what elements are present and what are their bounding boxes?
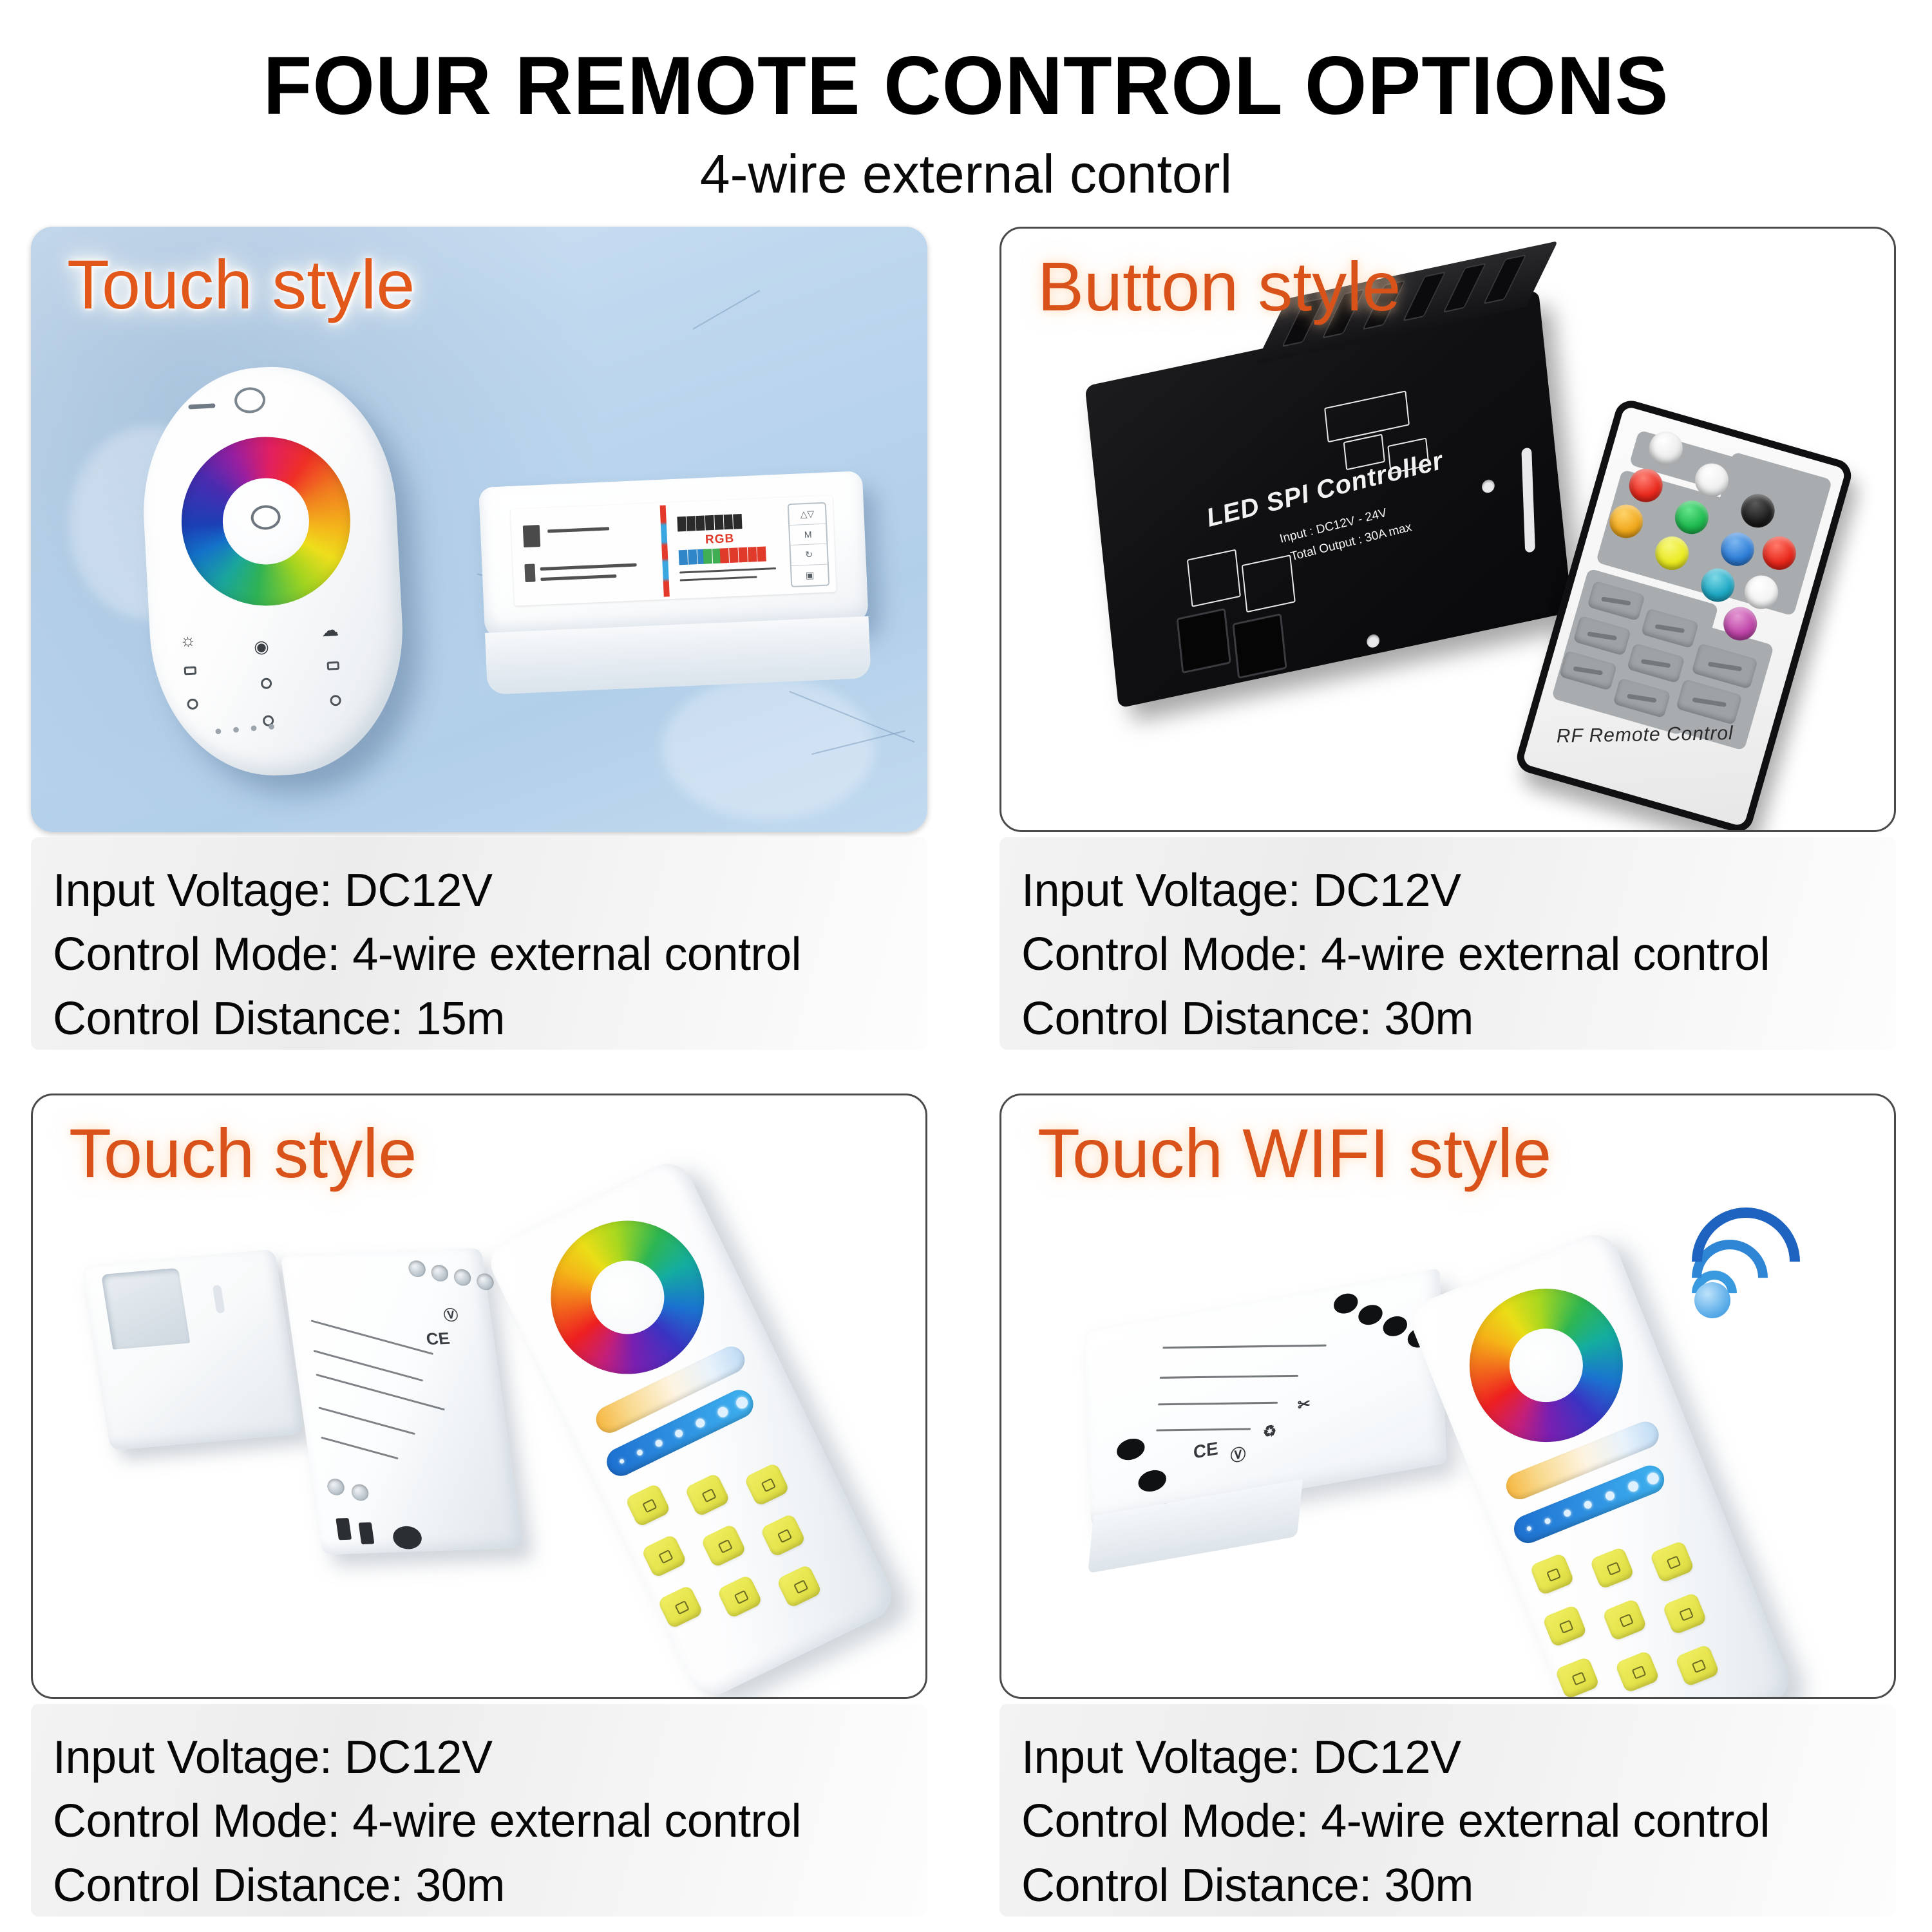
rj45-port-b	[1232, 613, 1287, 679]
screw-hole-b	[1366, 633, 1380, 649]
wifi-signal-icon	[1685, 1193, 1833, 1322]
dot-icon-a	[261, 677, 272, 689]
keypad-button-9	[776, 1564, 822, 1608]
wall-bracket	[82, 1249, 304, 1451]
button-m: M	[790, 524, 826, 545]
keypad-button-1	[625, 1483, 671, 1528]
style-label: Button style	[1037, 252, 1401, 321]
spec-panel: Input Voltage: DC12V Control Mode: 4-wir…	[999, 837, 1896, 1050]
spec-control-distance: Control Distance: 30m	[1021, 987, 1896, 1051]
power-circle-icon	[234, 386, 266, 413]
infographic-page: FOUR REMOTE CONTROL OPTIONS 4-wire exter…	[0, 0, 1932, 1932]
spec-input-voltage: Input Voltage: DC12V	[53, 1726, 927, 1790]
rf-remote-control: RF Remote Control	[1513, 397, 1855, 832]
keypad-button-3	[1649, 1540, 1695, 1583]
rj45-port-a	[1176, 608, 1231, 674]
oval-touch-remote: ☼ ◉ ☁ ● ● ● ●	[137, 361, 410, 782]
rohs-mark-box	[1242, 554, 1296, 612]
button-refresh: ↻	[791, 544, 828, 566]
spec-control-mode: Control Mode: 4-wire external control	[53, 1790, 927, 1853]
spec-panel: Input Voltage: DC12V Control Mode: 4-wir…	[31, 837, 927, 1050]
spec-control-distance: Control Distance: 30m	[53, 1854, 927, 1918]
keypad-button-2	[684, 1472, 730, 1517]
minus-icon	[188, 403, 215, 409]
link-icon	[330, 695, 341, 706]
spec-control-distance: Control Distance: 30m	[1021, 1854, 1896, 1918]
color-stripe	[660, 505, 670, 596]
product-photo-touch-wifi-style: Touch WIFI style	[999, 1094, 1896, 1699]
option-card-touch-style-15m[interactable]: Touch style ☼ ◉ ☁ ● ● ● ●	[31, 227, 958, 1056]
spec-control-distance: Control Distance: 15m	[53, 987, 927, 1051]
header: FOUR REMOTE CONTROL OPTIONS 4-wire exter…	[0, 0, 1932, 201]
mounting-slot	[1521, 447, 1535, 553]
keypad-button-8	[1615, 1650, 1660, 1693]
mode-icon	[184, 666, 197, 675]
speed-icon	[187, 698, 198, 710]
keypad-button-9	[1674, 1644, 1720, 1687]
style-label: Touch style	[69, 1119, 417, 1188]
remote-brand-mark: ● ● ● ●	[214, 719, 279, 739]
spec-panel: Input Voltage: DC12V Control Mode: 4-wir…	[999, 1704, 1896, 1917]
spec-input-voltage: Input Voltage: DC12V	[1021, 859, 1896, 923]
spec-control-mode: Control Mode: 4-wire external control	[1021, 923, 1896, 987]
black-led-spi-controller: LED SPI Controller Input : DC12V - 24V T…	[1085, 290, 1573, 708]
keypad-button-3	[744, 1462, 790, 1506]
wifi-controller-box: CE Ⓥ ♻ ✂	[1084, 1268, 1446, 1526]
brightness-icon: ☼	[180, 631, 196, 649]
keypad-button-8	[717, 1574, 763, 1618]
option-card-button-style-30m[interactable]: Button style LED SPI Controller Input : …	[999, 227, 1927, 1056]
white-rf-controller-box: ███████ RGB ███ ██ █████ △▽ M ↻ ▣	[478, 471, 869, 639]
controller-buttons: △▽ M ↻ ▣	[788, 502, 830, 587]
ce-mark-box	[1187, 549, 1241, 607]
globe-icon: ◉	[253, 638, 269, 656]
product-photo-button-style: Button style LED SPI Controller Input : …	[999, 227, 1896, 832]
led-driver: CE Ⓥ	[281, 1248, 524, 1555]
style-label: Touch style	[67, 250, 415, 319]
page-title: FOUR REMOTE CONTROL OPTIONS	[29, 0, 1903, 128]
keypad-button-6	[1662, 1592, 1708, 1635]
keypad-button-6	[760, 1513, 806, 1557]
keypad-button-4	[1542, 1604, 1587, 1647]
option-card-touch-style-30m[interactable]: Touch style CE Ⓥ	[31, 1094, 958, 1923]
keypad-button-5	[700, 1523, 746, 1567]
button-up-down: △▽	[789, 504, 826, 526]
keypad-button-5	[1602, 1598, 1647, 1642]
keypad-button-1	[1529, 1553, 1575, 1596]
screw-hole-a	[1481, 478, 1495, 494]
spec-panel: Input Voltage: DC12V Control Mode: 4-wir…	[31, 1704, 927, 1917]
button-set: ▣	[791, 564, 828, 586]
options-grid: Touch style ☼ ◉ ☁ ● ● ● ●	[0, 227, 1932, 1932]
keypad-button-4	[641, 1534, 687, 1578]
spec-control-mode: Control Mode: 4-wire external control	[53, 923, 927, 987]
bar-touch-remote	[482, 1155, 900, 1699]
option-card-touch-wifi-style-30m[interactable]: Touch WIFI style	[999, 1094, 1927, 1923]
keypad-button-7	[657, 1584, 703, 1629]
spec-control-mode: Control Mode: 4-wire external control	[1021, 1790, 1896, 1853]
spec-input-voltage: Input Voltage: DC12V	[1021, 1726, 1896, 1790]
spec-input-voltage: Input Voltage: DC12V	[53, 859, 927, 923]
product-photo-touch-style-2: Touch style CE Ⓥ	[31, 1094, 927, 1699]
remote-model-label: RF Remote Control	[1557, 723, 1734, 748]
page-subtitle: 4-wire external contorl	[0, 128, 1932, 201]
controller-label: ███████ RGB ███ ██ █████ △▽ M ↻ ▣	[511, 495, 837, 606]
keypad-button-7	[1555, 1656, 1600, 1699]
product-photo-touch-style: Touch style ☼ ◉ ☁ ● ● ● ●	[31, 227, 927, 832]
input-label-box	[1324, 390, 1410, 442]
style-label: Touch WIFI style	[1037, 1119, 1551, 1188]
zone-icon	[327, 661, 339, 670]
keypad-button-2	[1589, 1546, 1635, 1589]
bulb-icon: ☁	[321, 621, 339, 639]
